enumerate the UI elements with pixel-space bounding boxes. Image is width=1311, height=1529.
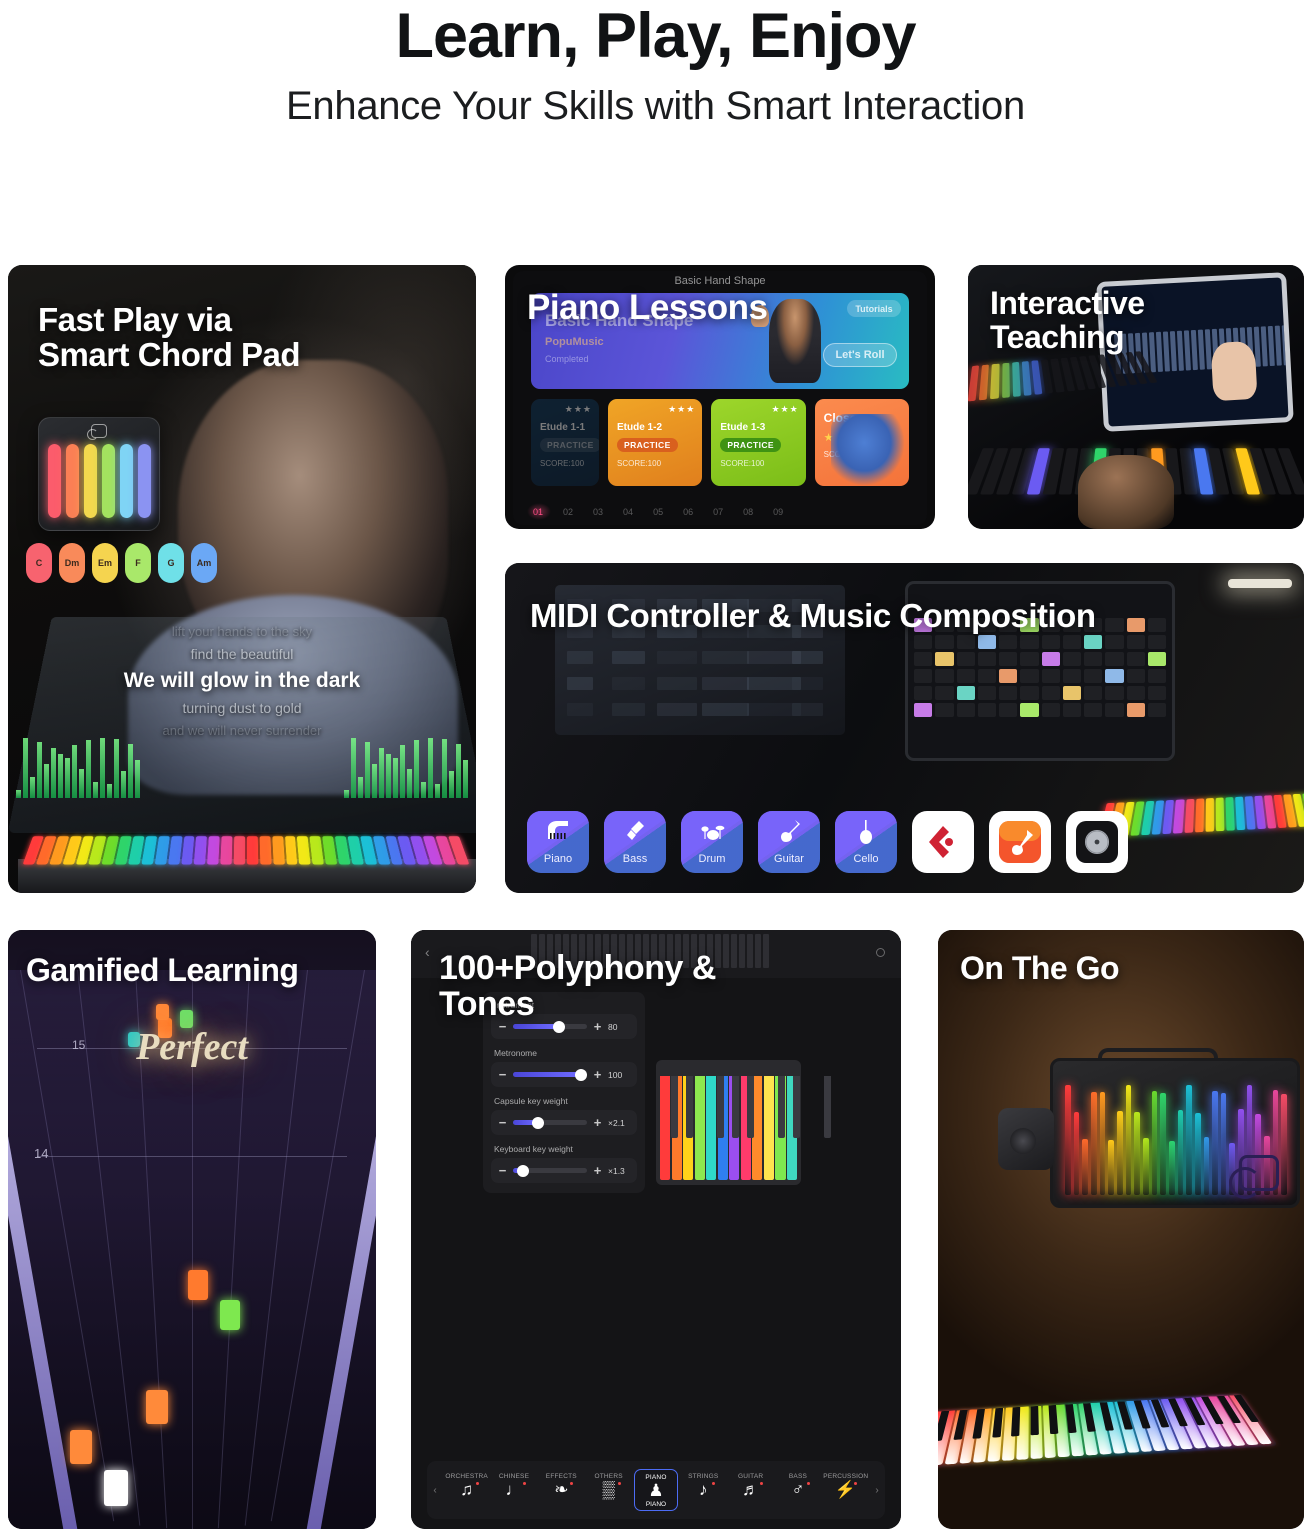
sequencer-cell	[1063, 703, 1081, 717]
increase-button[interactable]: +	[593, 1163, 602, 1178]
category-tab-label: ORCHESTRA	[445, 1473, 489, 1480]
category-tab-label: PIANO	[635, 1474, 677, 1481]
slider-knob[interactable]	[517, 1165, 529, 1177]
sequencer-cell	[1148, 635, 1166, 649]
instrument-tile-label: Cello	[835, 853, 897, 865]
daw-track-block	[657, 677, 697, 690]
smart-chord-pad-device[interactable]	[38, 417, 160, 531]
sequencer-cell	[1105, 686, 1123, 700]
keyboard-key[interactable]	[285, 836, 298, 864]
category-tab-guitar[interactable]: GUITAR♬	[729, 1469, 773, 1500]
chord-button[interactable]: Dm	[59, 543, 85, 583]
equalizer-bar	[121, 771, 126, 798]
equalizer-bar	[79, 769, 84, 798]
slider-knob[interactable]	[553, 1021, 565, 1033]
lyric-line-prev: find the beautiful	[8, 646, 476, 662]
sequencer-cell	[1084, 669, 1102, 683]
equalizer-bar	[435, 784, 440, 798]
setting-label: Capsule key weight	[494, 1096, 637, 1106]
instrument-app-tray[interactable]: PianoBassDrumGuitarCello	[527, 807, 1286, 877]
category-tab-percussion[interactable]: PERCUSSION⚡	[823, 1469, 867, 1500]
sequencer-cell	[935, 635, 953, 649]
chord-pad-light-bar[interactable]	[48, 444, 61, 518]
prev-category-icon[interactable]: ‹	[427, 1485, 443, 1496]
setting-value: 100	[608, 1070, 630, 1080]
instrument-tile-drum[interactable]: Drum	[681, 811, 743, 873]
feature-card-on-the-go[interactable]: On The Go	[938, 930, 1304, 1529]
onscreen-keyboard[interactable]	[656, 1060, 801, 1185]
sequencer-cell	[978, 635, 996, 649]
lesson-name: Etude 1-1	[540, 422, 590, 433]
category-tab-chinese[interactable]: CHINESE♩	[492, 1469, 536, 1500]
notification-dot	[523, 1482, 526, 1485]
feature-card-gamified-learning[interactable]: 15 14 Perfect Gamified Learning	[8, 930, 376, 1529]
keyboard-key[interactable]	[221, 836, 233, 864]
sequencer-cell	[999, 703, 1017, 717]
highway-lane	[20, 970, 114, 1521]
lesson-name: Etude 1-3	[720, 422, 796, 433]
setting-value: 80	[608, 1022, 630, 1032]
keyboard-key[interactable]	[168, 836, 182, 864]
instrument-tile-label: Bass	[604, 853, 666, 865]
tablet-key	[1149, 332, 1156, 372]
sequencer-cell	[1042, 652, 1060, 666]
decrease-button[interactable]: −	[498, 1067, 507, 1082]
sequencer-cell	[957, 669, 975, 683]
sequencer-cell	[978, 686, 996, 700]
sequencer-cell	[957, 652, 975, 666]
black-key	[1031, 1406, 1039, 1435]
black-key	[1117, 1401, 1133, 1429]
lit-key	[1012, 362, 1021, 397]
back-arrow-icon[interactable]: ‹	[425, 944, 430, 960]
equalizer-left	[16, 738, 140, 798]
sequencer-cell	[978, 703, 996, 717]
black-key	[1083, 1403, 1096, 1432]
sequencer-cell	[914, 669, 932, 683]
lesson-score: SCORE:100	[540, 459, 590, 468]
black-key	[938, 1411, 949, 1441]
app-tile-logic-pro-app-icon[interactable]	[1066, 811, 1128, 873]
cubase-app-icon	[925, 824, 961, 860]
equalizer-bar	[449, 771, 454, 798]
sequencer-cell	[1020, 686, 1038, 700]
black-key[interactable]	[793, 1076, 800, 1138]
led-bar	[1160, 1093, 1166, 1195]
instrument-tile-piano[interactable]: Piano	[527, 811, 589, 873]
category-tab-piano[interactable]: PIANO♟PIANO	[634, 1469, 678, 1511]
sequencer-cell	[914, 635, 932, 649]
feature-card-midi-controller[interactable]: MIDI Controller & Music Composition Pian…	[505, 563, 1304, 893]
sequencer-cell	[1105, 652, 1123, 666]
guitar-icon: ♬	[729, 1480, 773, 1500]
setting-row[interactable]: −+100	[491, 1062, 637, 1087]
daw-track-block	[792, 703, 823, 716]
piano-lessons-title: Piano Lessons	[527, 289, 768, 326]
tablet-key	[1282, 325, 1289, 365]
cello-icon	[855, 819, 877, 845]
lit-key	[1002, 363, 1010, 398]
lesson-score: SCORE:100	[617, 459, 693, 468]
note-block	[70, 1430, 92, 1464]
setting-slider[interactable]	[513, 1072, 587, 1077]
chord-button-row[interactable]: CDmEmFGAm	[26, 543, 217, 583]
keyboard-key[interactable]	[310, 836, 324, 864]
bar-number: 15	[72, 1038, 85, 1052]
category-tab-bass[interactable]: BASS♂	[776, 1469, 820, 1500]
sequencer-cell	[957, 686, 975, 700]
sequencer-cell	[1063, 652, 1081, 666]
erhu-icon: ♩	[492, 1480, 536, 1500]
black-key[interactable]	[671, 1076, 678, 1138]
lesson-card[interactable]: ★★★ Etude 1-3 PRACTICE SCORE:100	[711, 399, 805, 486]
category-tab-orchestra[interactable]: ORCHESTRA♫	[445, 1469, 489, 1500]
category-tab-label: CHINESE	[492, 1473, 536, 1480]
chord-pad-light-bar[interactable]	[102, 444, 115, 518]
sequencer-cell	[1084, 652, 1102, 666]
chord-button[interactable]: Am	[191, 543, 217, 583]
setting-label: Keyboard key weight	[494, 1144, 637, 1154]
black-keys[interactable]	[660, 1076, 797, 1138]
black-key[interactable]	[778, 1076, 785, 1138]
setting-value: ×1.3	[608, 1166, 630, 1176]
sequencer-cell	[935, 669, 953, 683]
lesson-name: Etude 1-2	[617, 422, 693, 433]
black-key	[1134, 1400, 1151, 1428]
equalizer-bar	[86, 740, 91, 798]
lesson-card[interactable]: ★★★ Etude 1-1 PRACTICE SCORE:100	[531, 399, 599, 486]
page-subtitle: Enhance Your Skills with Smart Interacti…	[0, 84, 1311, 129]
daw-track-block	[702, 703, 749, 716]
black-key	[992, 1408, 1003, 1438]
keyboard-key[interactable]	[155, 836, 170, 864]
daw-track-block	[702, 651, 749, 664]
instrument-tile-cello[interactable]: Cello	[835, 811, 897, 873]
led-bar	[1195, 1113, 1201, 1195]
chord-pad-light-bars	[48, 444, 151, 518]
increase-button[interactable]: +	[593, 1067, 602, 1082]
pagination-item[interactable]: 05	[653, 507, 663, 517]
rainbow-keyboard[interactable]	[23, 836, 470, 864]
on-the-go-title: On The Go	[960, 952, 1119, 986]
equalizer-bar	[128, 744, 133, 798]
led-bar	[1091, 1092, 1097, 1195]
sequencer-cell	[1127, 618, 1145, 632]
player-hand	[1078, 455, 1174, 529]
sequencer-cell	[1063, 686, 1081, 700]
black-key[interactable]	[747, 1076, 754, 1138]
bass-guitar-icon	[623, 819, 647, 843]
led-bar	[1152, 1091, 1158, 1195]
equalizer-bar	[107, 784, 112, 798]
feature-card-polyphony-tones[interactable]: ‹ Instrument−+80Metronome−+100Capsule ke…	[411, 930, 901, 1529]
keyboard-key[interactable]	[207, 836, 219, 864]
category-tab-effects[interactable]: EFFECTS❧	[539, 1469, 583, 1500]
equalizer-bar	[372, 764, 377, 798]
sequencer-cell	[935, 703, 953, 717]
led-bar	[1212, 1091, 1218, 1195]
daw-track-block	[612, 703, 645, 716]
sequencer-cell	[1127, 652, 1145, 666]
chord-pad-light-bar[interactable]	[120, 444, 133, 518]
top-bar-key	[755, 934, 761, 968]
lesson-card-list: ★★★ Etude 1-1 PRACTICE SCORE:100 ★★★ Etu…	[531, 399, 909, 486]
pagination-item[interactable]: 09	[773, 507, 783, 517]
tutorial-hand-graphic	[1211, 341, 1258, 401]
top-bar-key	[747, 934, 753, 968]
sequencer-cell	[1148, 686, 1166, 700]
black-key	[1168, 1399, 1188, 1427]
rating-text: Perfect	[136, 1025, 248, 1069]
settings-icon[interactable]	[876, 948, 885, 957]
led-bar	[1204, 1137, 1210, 1195]
keyboard-key[interactable]	[259, 836, 271, 864]
page-title: Learn, Play, Enjoy	[0, 2, 1311, 70]
keyboard-key[interactable]	[181, 836, 195, 864]
hero-brand: PopuMusic	[545, 336, 604, 348]
led-bar	[1082, 1139, 1088, 1195]
black-key	[1100, 1402, 1114, 1431]
equalizer-bar	[72, 745, 77, 798]
sequencer-cell	[914, 686, 932, 700]
carry-case-device	[1050, 1058, 1300, 1208]
setting-slider[interactable]	[513, 1024, 587, 1029]
daw-track-block	[702, 677, 749, 690]
sequencer-cell	[1127, 635, 1145, 649]
lyric-line-next: turning dust to gold	[8, 700, 476, 716]
sequencer-cell	[1127, 703, 1145, 717]
lit-key	[979, 365, 989, 401]
saxophone-icon: ♫	[445, 1480, 489, 1500]
practice-badge: PRACTICE	[617, 438, 678, 452]
sequencer-cell	[999, 635, 1017, 649]
category-tab-label: OTHERS	[587, 1473, 631, 1480]
keyboard-key[interactable]	[272, 836, 284, 864]
lesson-pagination[interactable]: 010203040506070809	[513, 503, 927, 521]
sequencer-cell	[1020, 635, 1038, 649]
equalizer-bar	[30, 777, 35, 798]
equalizer-bar	[351, 738, 356, 798]
sequencer-cell	[999, 652, 1017, 666]
category-tab-strings[interactable]: STRINGS♪	[681, 1469, 725, 1500]
feature-card-piano-lessons[interactable]: Basic Hand Shape Basic Hand Shape PopuMu…	[505, 265, 935, 529]
daw-track-block	[567, 677, 593, 690]
instrument-tile-guitar[interactable]: Guitar	[758, 811, 820, 873]
chord-button[interactable]: G	[158, 543, 184, 583]
setting-row[interactable]: −+×1.3	[491, 1158, 637, 1183]
equalizer-bar	[414, 740, 419, 798]
black-key[interactable]	[717, 1076, 724, 1138]
next-category-icon[interactable]: ›	[869, 1485, 885, 1496]
note-block	[188, 1270, 208, 1300]
chord-button[interactable]: C	[26, 543, 52, 583]
equalizer-bar	[100, 738, 105, 798]
instrument-category-bar[interactable]: ‹ ORCHESTRA♫CHINESE♩EFFECTS❧OTHERS▒PIANO…	[427, 1461, 885, 1519]
category-tab-list[interactable]: ORCHESTRA♫CHINESE♩EFFECTS❧OTHERS▒PIANO♟P…	[443, 1469, 869, 1511]
black-key	[1065, 1404, 1076, 1433]
led-bar	[1178, 1110, 1184, 1195]
bass-icon: ♂	[776, 1480, 820, 1500]
sequencer-cell	[1020, 669, 1038, 683]
lyric-line-next-faint: and we will never surrender	[8, 723, 476, 738]
chord-button[interactable]: Em	[92, 543, 118, 583]
tablet-key	[1261, 326, 1268, 366]
sequencer-cell	[914, 652, 932, 666]
led-bar	[1281, 1094, 1287, 1195]
chord-pad-light-bar[interactable]	[84, 444, 97, 518]
fast-play-title: Fast Play via Smart Chord Pad	[38, 303, 300, 373]
sequencer-cell	[1042, 635, 1060, 649]
daw-track-block	[792, 651, 823, 664]
pagination-item[interactable]: 07	[713, 507, 723, 517]
instrument-tile-bass[interactable]: Bass	[604, 811, 666, 873]
tablet-key	[1191, 330, 1198, 370]
feature-card-fast-play[interactable]: Fast Play via Smart Chord Pad CDmEmFGAm …	[8, 265, 476, 893]
sequencer-cell	[1105, 669, 1123, 683]
pagination-item[interactable]: 02	[563, 507, 573, 517]
tablet-key	[1177, 331, 1184, 371]
keyboard-key[interactable]	[194, 836, 207, 864]
sequencer-cell	[1063, 669, 1081, 683]
category-tab-label: PERCUSSION	[823, 1473, 867, 1480]
slider-knob[interactable]	[575, 1069, 587, 1081]
decrease-button[interactable]: −	[498, 1115, 507, 1130]
black-key[interactable]	[824, 1076, 831, 1138]
keyboard-key[interactable]	[234, 836, 245, 864]
app-logo-icon	[91, 424, 107, 438]
chord-button[interactable]: F	[125, 543, 151, 583]
app-tile-cubase-app-icon[interactable]	[912, 811, 974, 873]
daw-track-block	[612, 677, 645, 690]
sequencer-cell	[1148, 618, 1166, 632]
tutorials-button[interactable]: Tutorials	[847, 300, 901, 317]
polyphony-title: 100+Polyphony & Tones	[439, 950, 716, 1022]
lets-roll-button[interactable]: Let's Roll	[823, 343, 897, 367]
star-rating: ★★★	[668, 404, 695, 415]
sequencer-cell	[1084, 686, 1102, 700]
setting-slider[interactable]	[513, 1120, 587, 1125]
chord-pad-light-bar[interactable]	[138, 444, 151, 518]
setting-value: ×2.1	[608, 1118, 630, 1128]
category-tab-others[interactable]: OTHERS▒	[587, 1469, 631, 1500]
lit-key	[1022, 361, 1032, 396]
hero-meta: Completed	[545, 354, 589, 364]
tablet-key	[1184, 330, 1191, 370]
app-tile-garageband-app-icon[interactable]	[989, 811, 1051, 873]
tablet-key	[1198, 330, 1205, 370]
tablet-key	[1275, 326, 1282, 366]
category-tab-label: GUITAR	[729, 1473, 773, 1480]
equalizer-right	[344, 738, 468, 798]
black-key[interactable]	[732, 1076, 739, 1138]
led-bar	[1126, 1085, 1132, 1195]
equalizer-bar	[428, 738, 433, 798]
midi-title: MIDI Controller & Music Composition	[530, 599, 1096, 634]
led-bar	[1143, 1138, 1149, 1195]
lyric-line-current: We will glow in the dark	[8, 669, 476, 693]
sequencer-cell	[999, 669, 1017, 683]
pagination-item[interactable]: 04	[623, 507, 633, 517]
top-bar-key	[731, 934, 737, 968]
equalizer-bar	[393, 758, 398, 798]
interactive-teaching-title: Interactive Teaching	[990, 287, 1145, 355]
notification-dot	[618, 1482, 621, 1485]
equalizer-bar	[44, 764, 49, 798]
daw-track-block	[567, 651, 593, 664]
sequencer-cell	[1127, 686, 1145, 700]
black-key	[1184, 1398, 1205, 1426]
chord-pad-light-bar[interactable]	[66, 444, 79, 518]
lesson-card[interactable]: Closer ★★★ SCORE:97	[815, 399, 909, 486]
black-key	[973, 1409, 986, 1439]
sequencer-cell	[935, 686, 953, 700]
lit-key	[990, 364, 999, 400]
sequencer-cell	[978, 652, 996, 666]
practice-badge: PRACTICE	[540, 438, 599, 452]
slider-knob[interactable]	[532, 1117, 544, 1129]
top-bar-key	[739, 934, 745, 968]
instrument-tile-label: Guitar	[758, 853, 820, 865]
daw-track-block	[567, 703, 593, 716]
lesson-card[interactable]: ★★★ Etude 1-2 PRACTICE SCORE:100	[608, 399, 702, 486]
keyboard-key[interactable]	[297, 836, 311, 864]
black-key[interactable]	[686, 1076, 693, 1138]
highway-lane	[244, 970, 307, 1526]
notification-dot	[807, 1482, 810, 1485]
bar-number: 14	[34, 1146, 48, 1161]
sequencer-cell	[957, 635, 975, 649]
equalizer-bar	[135, 760, 140, 798]
setting-row[interactable]: −+×2.1	[491, 1110, 637, 1135]
equalizer-bar	[358, 777, 363, 798]
sequencer-cell	[1020, 652, 1038, 666]
led-bar	[1186, 1085, 1192, 1195]
setting-slider[interactable]	[513, 1168, 587, 1173]
led-bar	[1074, 1112, 1080, 1196]
sequencer-cell	[1063, 635, 1081, 649]
lyrics-overlay: lift your hands to the sky find the beau…	[8, 617, 476, 745]
daw-track-block	[612, 651, 645, 664]
sequencer-cell	[1042, 686, 1060, 700]
drum-kit-icon: ⚡	[823, 1480, 867, 1500]
equalizer-bar	[421, 782, 426, 798]
feature-card-interactive-teaching[interactable]: Interactive Teaching	[968, 265, 1304, 529]
highway-lane	[271, 970, 365, 1521]
camera-object	[998, 1108, 1054, 1170]
equalizer-bar	[37, 742, 42, 798]
daw-track-block	[657, 651, 697, 664]
electric-guitar-icon	[776, 819, 802, 843]
pagination-item[interactable]: 06	[683, 507, 693, 517]
notification-dot	[760, 1482, 763, 1485]
pagination-item[interactable]: 08	[743, 507, 753, 517]
daw-track-block	[657, 703, 697, 716]
equalizer-bar	[456, 744, 461, 798]
pagination-item[interactable]: 01	[533, 507, 543, 517]
sequencer-cell	[1084, 635, 1102, 649]
desk-lamp-light	[1228, 579, 1292, 588]
equalizer-bar	[23, 738, 28, 798]
instrument-tile-label: Drum	[681, 853, 743, 865]
sequencer-cell	[935, 652, 953, 666]
equalizer-bar	[407, 769, 412, 798]
category-tab-sublabel: PIANO	[635, 1501, 677, 1508]
sequencer-cell	[999, 686, 1017, 700]
keyboard-key[interactable]	[247, 836, 258, 864]
decrease-button[interactable]: −	[498, 1163, 507, 1178]
pagination-item[interactable]: 03	[593, 507, 603, 517]
increase-button[interactable]: +	[593, 1115, 602, 1130]
